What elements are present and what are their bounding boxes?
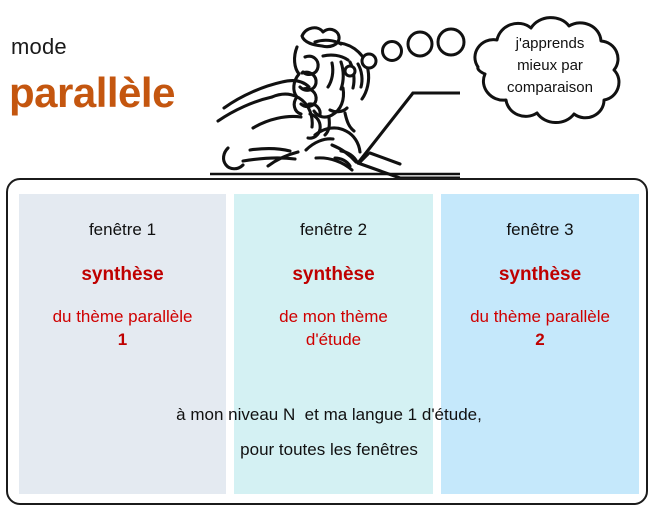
window-column-1-subtitle: du thème parallèle 1 (19, 306, 226, 352)
window-column-2[interactable]: fenêtre 2 synthèse de mon thème d'étude (234, 194, 433, 494)
window-column-1-emphasis: 1 (118, 330, 127, 349)
window-column-3-emphasis: 2 (535, 330, 544, 349)
window-column-1-subtitle-text: du thème parallèle (53, 307, 193, 326)
windows-columns-row: fenêtre 1 synthèse du thème parallèle 1 … (8, 194, 650, 494)
window-column-2-subtitle: de mon thème d'étude (234, 306, 433, 352)
window-column-1[interactable]: fenêtre 1 synthèse du thème parallèle 1 (19, 194, 226, 494)
mode-label: mode (11, 36, 67, 58)
window-column-2-subtitle-text: de mon thème (279, 307, 388, 326)
thought-bubble-line-1: j'apprends (470, 33, 630, 55)
mode-title: parallèle (9, 72, 175, 114)
window-column-1-synthese: synthèse (19, 264, 226, 287)
thought-bubble-text: j'apprends mieux par comparaison (470, 33, 630, 98)
thought-bubble-line-3: comparaison (470, 77, 630, 99)
window-column-3-subtitle-text: du thème parallèle (470, 307, 610, 326)
window-column-3[interactable]: fenêtre 3 synthèse du thème parallèle 2 (441, 194, 639, 494)
window-column-3-header: fenêtre 3 (441, 220, 639, 240)
thought-bubble-line-2: mieux par (470, 55, 630, 77)
window-column-2-synthese: synthèse (234, 264, 433, 287)
window-column-1-header: fenêtre 1 (19, 220, 226, 240)
window-column-2-header: fenêtre 2 (234, 220, 433, 240)
window-column-2-emphasis: d'étude (306, 330, 361, 349)
windows-panel: fenêtre 1 synthèse du thème parallèle 1 … (6, 178, 648, 505)
window-column-3-subtitle: du thème parallèle 2 (441, 306, 639, 352)
window-column-3-synthese: synthèse (441, 264, 639, 287)
header-area: mode parallèle (0, 0, 657, 178)
